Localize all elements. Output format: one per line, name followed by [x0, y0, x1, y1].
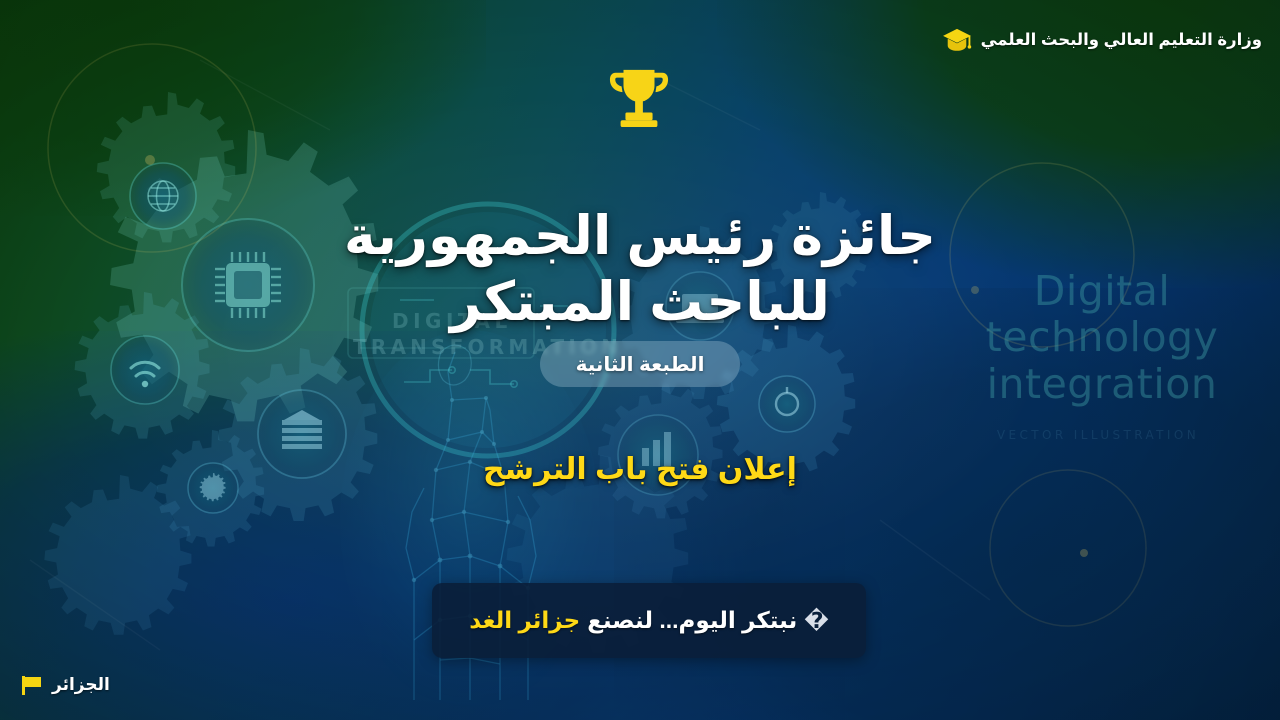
graduation-cap-icon — [942, 27, 972, 53]
page-title: جائزة رئيس الجمهورية للباحث المبتكر — [0, 204, 1280, 336]
country-label: الجزائر — [52, 675, 110, 695]
edition-badge-label: الطبعة الثانية — [576, 352, 705, 377]
announcement-text: إعلان فتح باب الترشح — [0, 452, 1280, 487]
flag-icon — [20, 674, 44, 696]
edition-badge: الطبعة الثانية — [540, 341, 740, 387]
lightbulb-icon: � — [804, 609, 829, 634]
title-line-2: للباحث المبتكر — [160, 270, 1120, 336]
watermark-vector-illustration: VECTOR ILLUSTRATION — [978, 428, 1218, 442]
slogan-highlight: جزائر الغد — [469, 607, 580, 634]
trophy-icon — [608, 64, 670, 130]
country-tag: الجزائر — [20, 674, 110, 696]
slogan-banner: � نبتكر اليوم... لنصنع جزائر الغد — [432, 583, 866, 658]
slogan-primary: نبتكر اليوم... لنصنع — [587, 607, 797, 634]
poster-canvas: Digital technology integration VECTOR IL… — [0, 0, 1280, 720]
ministry-label: وزارة التعليم العالي والبحث العلمي — [981, 30, 1262, 50]
ministry-header: وزارة التعليم العالي والبحث العلمي — [942, 27, 1262, 53]
title-line-1: جائزة رئيس الجمهورية — [344, 206, 936, 266]
